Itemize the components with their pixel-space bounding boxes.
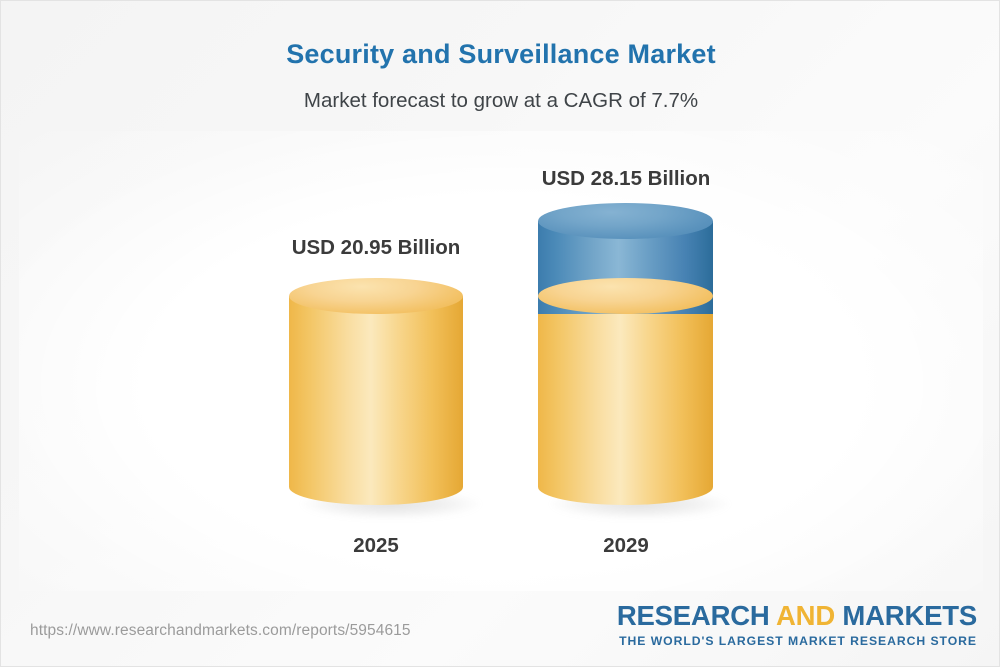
bar-body-2025 <box>289 296 463 487</box>
logo-word-research: RESEARCH <box>617 600 770 631</box>
logo-word-markets: MARKETS <box>842 600 977 631</box>
chart-title: Security and Surveillance Market <box>1 39 1000 70</box>
logo-wordmark: RESEARCH AND MARKETS <box>617 602 977 631</box>
research-and-markets-logo[interactable]: RESEARCH AND MARKETS THE WORLD'S LARGEST… <box>617 602 977 649</box>
bar-top-ellipse-2025 <box>289 278 463 314</box>
chart-canvas: Security and Surveillance Market Market … <box>0 0 1000 667</box>
chart-subtitle: Market forecast to grow at a CAGR of 7.7… <box>1 89 1000 113</box>
bar-category-label-2025: 2025 <box>276 534 476 558</box>
bar-base-top-ellipse-2029 <box>538 278 713 314</box>
bar-growth-top-ellipse-2029 <box>538 203 713 239</box>
bar-cylinder-2029[interactable] <box>538 203 713 527</box>
bar-category-label-2029: 2029 <box>526 534 726 558</box>
bar-value-label-2029: USD 28.15 Billion <box>526 167 726 191</box>
bar-value-label-2025: USD 20.95 Billion <box>276 236 476 260</box>
bar-cylinder-2025[interactable] <box>289 278 463 527</box>
logo-tagline: THE WORLD'S LARGEST MARKET RESEARCH STOR… <box>617 634 977 649</box>
plot-background <box>19 131 983 591</box>
report-url[interactable]: https://www.researchandmarkets.com/repor… <box>30 622 411 640</box>
logo-word-and: AND <box>770 600 843 631</box>
bar-base-body-2029 <box>538 296 713 487</box>
